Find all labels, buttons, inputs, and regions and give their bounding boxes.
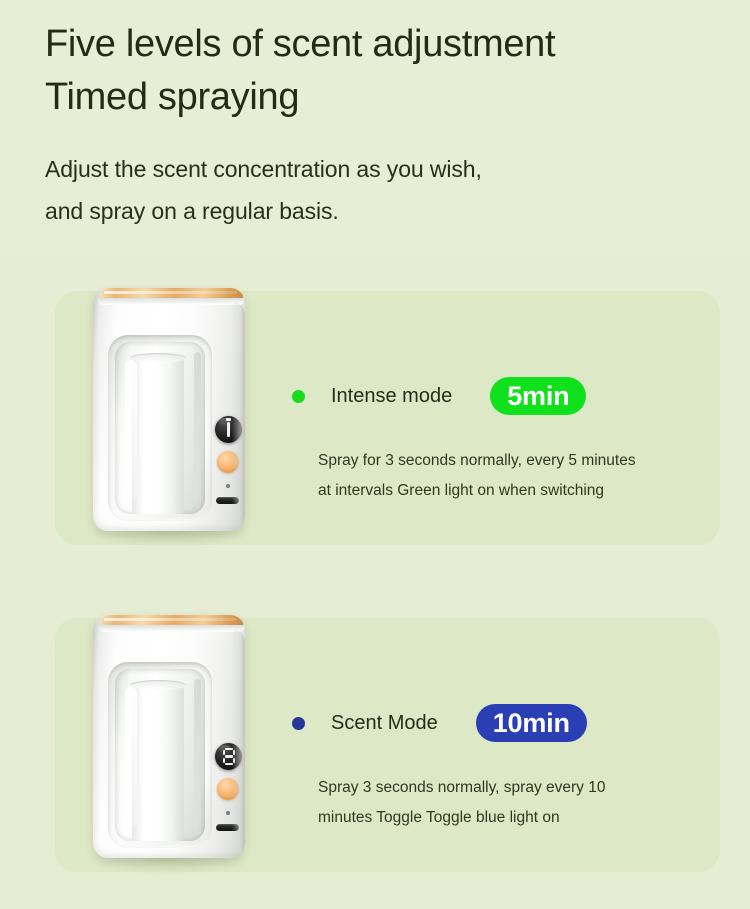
mode-description-line-2: minutes Toggle Toggle blue light on [318,803,718,833]
heading-block: Five levels of scent adjustment Timed sp… [45,18,715,232]
mode-bullet-dot-icon [292,717,305,730]
mode-description: Spray 3 seconds normally, spray every 10… [318,773,718,833]
segment-f [223,750,225,755]
mode-bullet-dot-icon [292,390,305,403]
reservoir-gloss-highlight [125,687,137,827]
product-feature-page: Five levels of scent adjustment Timed sp… [0,0,750,909]
reservoir-right-edge [194,352,201,508]
mode-description-line-1: Spray 3 seconds normally, spray every 10 [318,773,718,803]
bar-indicator-icon [227,422,230,437]
device-body [93,615,245,858]
reservoir-gloss-highlight [125,360,137,500]
headline-line-1: Five levels of scent adjustment [45,18,715,71]
mode-row: Intense mode 5min [292,376,586,416]
reservoir-tube [132,683,184,841]
mode-description-line-2: at intervals Green light on when switchi… [318,476,718,506]
led-indicator-dot [226,484,230,488]
duration-badge: 5min [490,377,586,415]
mode-row: Scent Mode 10min [292,703,587,743]
feature-card-intense-mode: Intense mode 5min Spray for 3 seconds no… [55,291,720,545]
subcopy-block: Adjust the scent concentration as you wi… [45,148,715,232]
mode-description: Spray for 3 seconds normally, every 5 mi… [318,446,718,506]
device-side-sheen [232,302,245,528]
diffuser-device-image [83,280,258,538]
mode-label: Scent Mode [331,711,438,735]
diffuser-device-image [83,607,258,865]
headline-line-2: Timed spraying [45,71,715,124]
reservoir-tube [132,356,184,514]
subcopy-line-1: Adjust the scent concentration as you wi… [45,148,715,190]
card-inner: Intense mode 5min Spray for 3 seconds no… [55,291,720,545]
device-top-lip [98,298,245,305]
led-indicator-dot [226,811,230,815]
device-body [93,288,245,531]
subcopy-line-2: and spray on a regular basis. [45,190,715,232]
reservoir-frame [108,335,212,521]
mode-description-line-1: Spray for 3 seconds normally, every 5 mi… [318,446,718,476]
feature-card-scent-mode: Scent Mode 10min Spray 3 seconds normall… [55,618,720,872]
device-side-sheen [232,629,245,855]
reservoir-tube-top [130,353,186,363]
reservoir-window [115,669,205,841]
reservoir-right-edge [194,679,201,835]
reservoir-tube-top [130,680,186,690]
card-inner: Scent Mode 10min Spray 3 seconds normall… [55,618,720,872]
reservoir-frame [108,662,212,848]
mode-label: Intense mode [331,384,452,408]
duration-badge: 10min [476,704,587,742]
device-top-lip [98,625,245,632]
reservoir-window [115,342,205,514]
